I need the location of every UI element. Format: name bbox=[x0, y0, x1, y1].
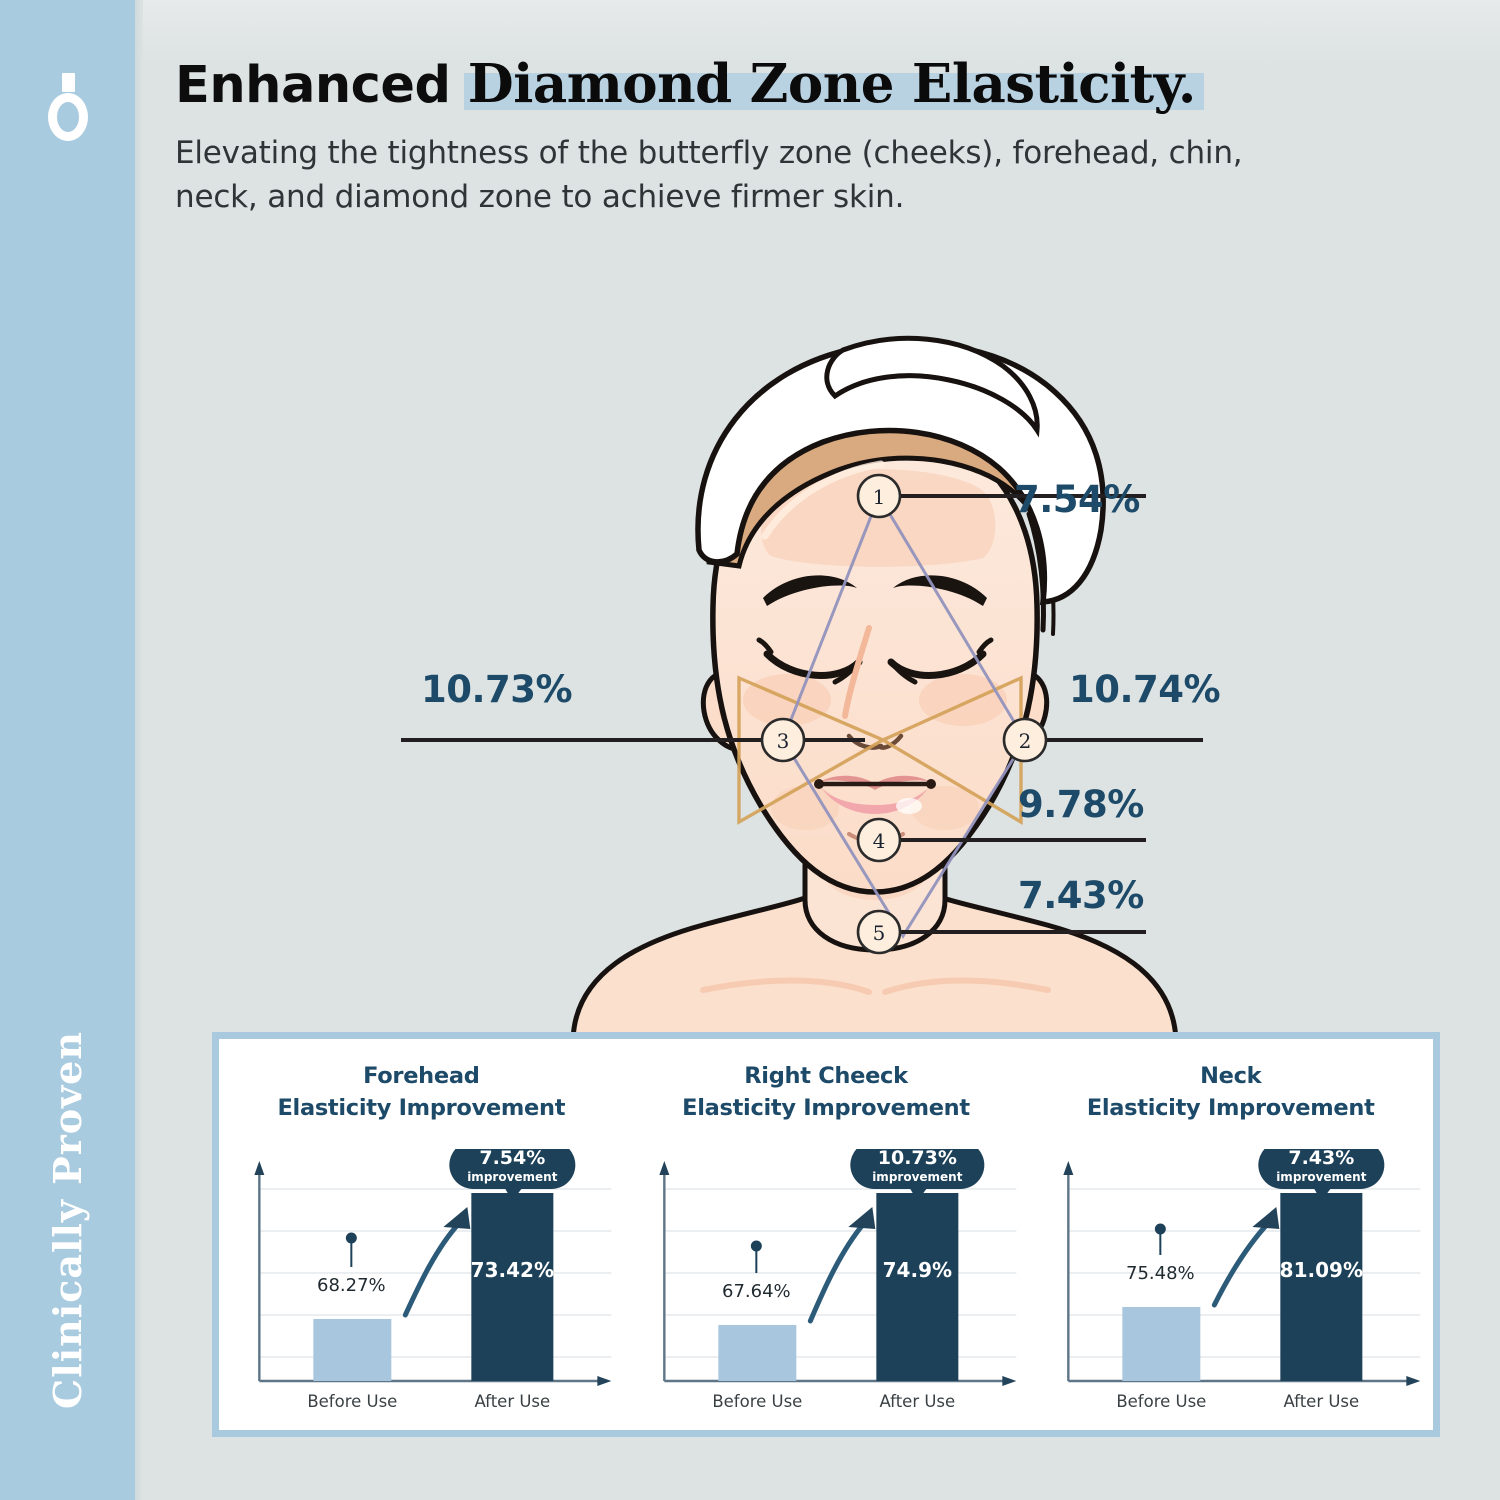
improvement-bubble: 7.43% improvement bbox=[1259, 1149, 1385, 1201]
chart-title-neck: Neck Elasticity Improvement bbox=[1028, 1061, 1433, 1125]
svg-text:3: 3 bbox=[777, 729, 790, 753]
chart-neck: Neck Elasticity Improvement bbox=[1028, 1039, 1433, 1430]
chart-title-line1: Right Cheeck bbox=[624, 1061, 1029, 1093]
face-illustration: 1 2 3 4 5 bbox=[143, 300, 1500, 1060]
face-pct-left-cheek: 10.73% bbox=[421, 668, 572, 711]
clinically-proven-label: Clinically Proven bbox=[45, 1031, 90, 1409]
growth-arrow bbox=[405, 1223, 459, 1315]
chart-title-line1: Neck bbox=[1028, 1061, 1433, 1093]
bar-after bbox=[1281, 1193, 1363, 1381]
charts-panel: Forehead Elasticity Improvement bbox=[212, 1032, 1440, 1437]
chart-title-line1: Forehead bbox=[219, 1061, 624, 1093]
improvement-bubble: 10.73% improvement bbox=[850, 1149, 984, 1201]
growth-arrow bbox=[1215, 1223, 1269, 1305]
before-value-label: 67.64% bbox=[722, 1281, 791, 1302]
category-after: After Use bbox=[1284, 1392, 1360, 1411]
svg-text:improvement: improvement bbox=[467, 1170, 558, 1184]
left-sidebar: Clinically Proven bbox=[0, 0, 135, 1500]
category-before: Before Use bbox=[307, 1392, 397, 1411]
category-after: After Use bbox=[474, 1392, 550, 1411]
clinically-proven-tagline: Clinically Proven bbox=[0, 1010, 135, 1430]
svg-text:2: 2 bbox=[1019, 729, 1032, 753]
after-value-label: 73.42% bbox=[471, 1258, 554, 1282]
marker-2: 2 bbox=[1004, 719, 1046, 761]
svg-text:10.73%: 10.73% bbox=[877, 1149, 956, 1169]
growth-arrow-head bbox=[848, 1207, 875, 1229]
page-title-emphasis: Diamond Zone Elasticity. bbox=[468, 53, 1196, 115]
infographic-page: Clinically Proven Enhanced Diamond Zone … bbox=[0, 0, 1500, 1500]
gridlines bbox=[664, 1189, 1016, 1357]
svg-text:7.43%: 7.43% bbox=[1289, 1149, 1355, 1169]
category-after: After Use bbox=[879, 1392, 955, 1411]
improvement-bubble: 7.54% improvement bbox=[449, 1149, 575, 1201]
bar-after bbox=[471, 1193, 553, 1381]
bar-after bbox=[876, 1193, 958, 1381]
chart-title-line2: Elasticity Improvement bbox=[219, 1093, 624, 1125]
chart-title-right-cheek: Right Cheeck Elasticity Improvement bbox=[624, 1061, 1029, 1125]
before-value-pin bbox=[751, 1241, 762, 1274]
brand-logo bbox=[0, 52, 135, 162]
o-umlaut-logo-icon bbox=[40, 73, 96, 141]
face-pct-forehead: 7.54% bbox=[1014, 478, 1140, 521]
gridlines bbox=[259, 1189, 611, 1357]
category-before: Before Use bbox=[1117, 1392, 1207, 1411]
chart-title-forehead: Forehead Elasticity Improvement bbox=[219, 1061, 624, 1125]
svg-text:4: 4 bbox=[873, 829, 886, 853]
after-value-label: 74.9% bbox=[882, 1258, 951, 1282]
svg-text:improvement: improvement bbox=[872, 1170, 963, 1184]
before-value-label: 75.48% bbox=[1126, 1263, 1195, 1284]
before-value-label: 68.27% bbox=[317, 1275, 386, 1296]
chart-body-forehead: 68.27% 73.42% 7.54% improvement Before U… bbox=[219, 1149, 624, 1419]
bar-before bbox=[1123, 1307, 1201, 1381]
svg-text:5: 5 bbox=[873, 921, 886, 945]
page-title-plain: Enhanced bbox=[175, 56, 468, 115]
page-title: Enhanced Diamond Zone Elasticity. bbox=[175, 58, 1355, 111]
chart-title-line2: Elasticity Improvement bbox=[1028, 1093, 1433, 1125]
gridlines bbox=[1069, 1189, 1421, 1357]
before-value-pin bbox=[1155, 1224, 1166, 1256]
marker-4: 4 bbox=[858, 819, 900, 861]
before-value-pin bbox=[346, 1233, 357, 1268]
bar-before bbox=[313, 1319, 391, 1381]
chart-body-neck: 75.48% 81.09% 7.43% improvement Before U… bbox=[1028, 1149, 1433, 1419]
category-before: Before Use bbox=[712, 1392, 802, 1411]
svg-text:7.54%: 7.54% bbox=[479, 1149, 545, 1169]
svg-text:1: 1 bbox=[873, 485, 886, 509]
page-title-emphasis-wrap: Diamond Zone Elasticity. bbox=[468, 58, 1196, 111]
face-pct-neck: 7.43% bbox=[1018, 874, 1144, 917]
marker-1: 1 bbox=[858, 475, 900, 517]
growth-arrow-head bbox=[1253, 1207, 1280, 1229]
face-pct-chin: 9.78% bbox=[1018, 783, 1144, 826]
sidebar-edge-shadow bbox=[135, 0, 143, 1500]
marker-3: 3 bbox=[762, 719, 804, 761]
growth-arrow-head bbox=[443, 1207, 470, 1229]
chart-body-right-cheek: 67.64% 74.9% 10.73% improvement Before U… bbox=[624, 1149, 1029, 1419]
face-pct-right-cheek: 10.74% bbox=[1069, 668, 1220, 711]
bar-before bbox=[718, 1325, 796, 1381]
page-subtitle: Elevating the tightness of the butterfly… bbox=[175, 131, 1265, 219]
chart-forehead: Forehead Elasticity Improvement bbox=[219, 1039, 624, 1430]
after-value-label: 81.09% bbox=[1280, 1258, 1363, 1282]
chart-right-cheek: Right Cheeck Elasticity Improvement bbox=[624, 1039, 1029, 1430]
svg-text:improvement: improvement bbox=[1277, 1170, 1368, 1184]
marker-5: 5 bbox=[858, 911, 900, 953]
chart-title-line2: Elasticity Improvement bbox=[624, 1093, 1029, 1125]
header: Enhanced Diamond Zone Elasticity. Elevat… bbox=[175, 58, 1355, 219]
